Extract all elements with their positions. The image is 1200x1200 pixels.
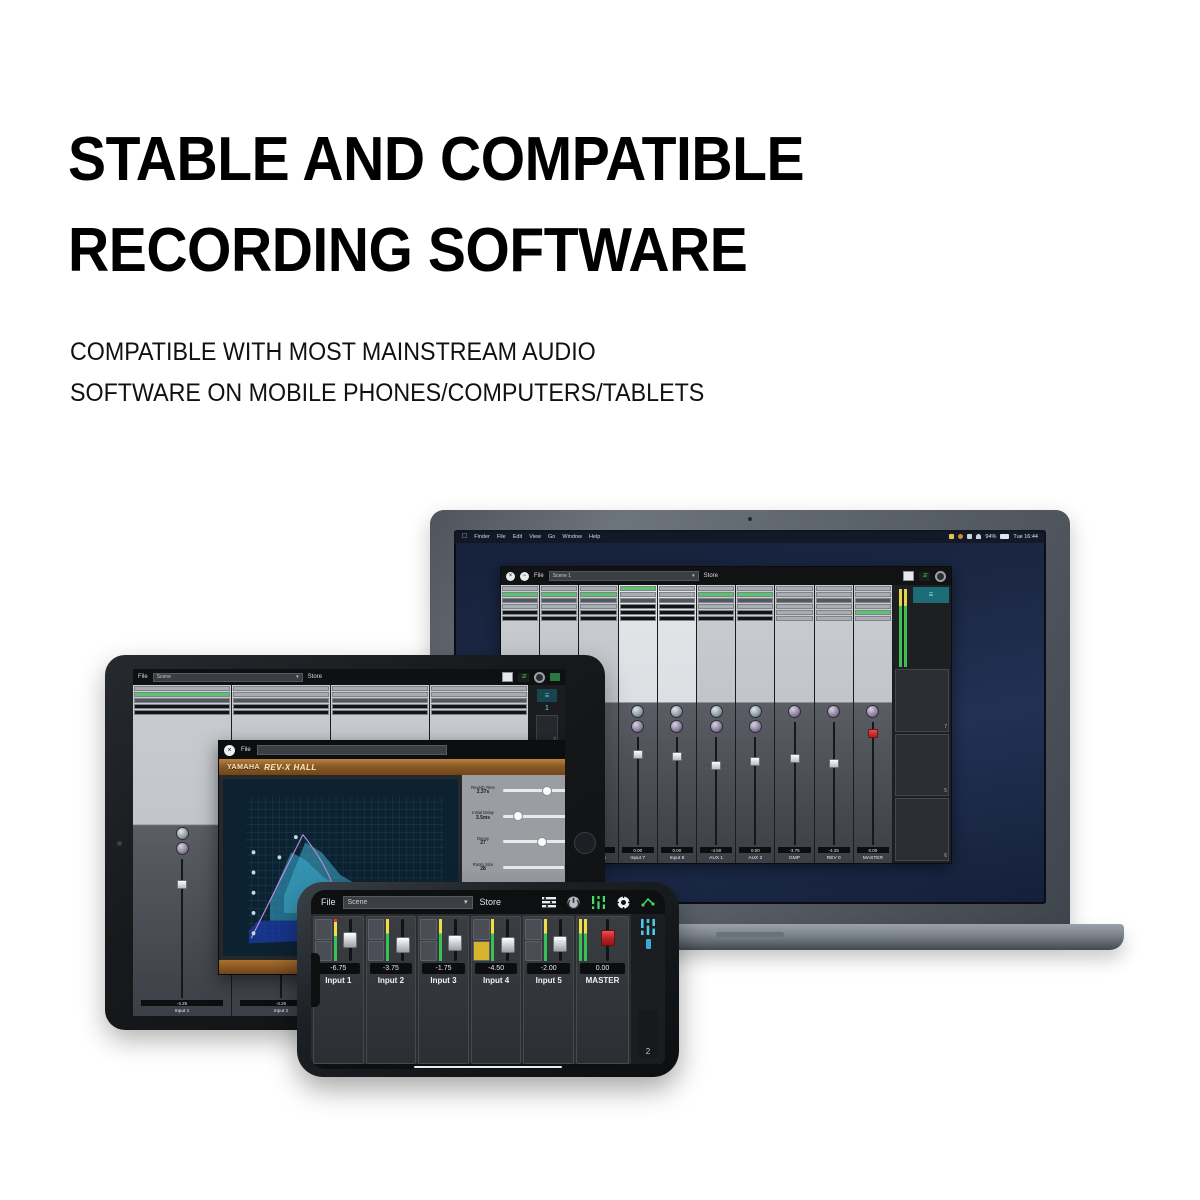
- phone-toolbar-icons: [542, 896, 655, 909]
- channel-controls: [697, 585, 735, 702]
- routing-cell[interactable]: [659, 598, 695, 603]
- fader-area[interactable]: [854, 720, 892, 845]
- menubar-clock[interactable]: Tue 16:44: [1013, 534, 1038, 540]
- routing-cell[interactable]: [233, 698, 329, 703]
- mute-button[interactable]: [420, 941, 437, 962]
- fader-area[interactable]: [697, 735, 735, 845]
- channel-lower: -4.25 Input 1: [133, 824, 231, 1016]
- channel-lower: -4.25 REV 0: [815, 702, 853, 863]
- level-meter: [385, 919, 390, 961]
- routing-cell[interactable]: [698, 586, 734, 591]
- fader-handle[interactable]: [633, 750, 643, 759]
- laptop-toolbar-right: ☰: [903, 571, 946, 582]
- phone-mixer-sidebar: 2: [631, 914, 665, 1064]
- routing-cell[interactable]: [776, 598, 812, 603]
- routing-cell[interactable]: [502, 616, 538, 621]
- file-label: File: [534, 573, 544, 579]
- fader-handle[interactable]: [343, 932, 357, 948]
- list-item[interactable]: Room Size 28: [466, 856, 565, 879]
- menu-item-help[interactable]: Help: [589, 534, 600, 540]
- routing-cell[interactable]: [502, 592, 538, 597]
- fader-area[interactable]: [815, 720, 853, 845]
- routing-cell[interactable]: [431, 698, 527, 703]
- close-icon[interactable]: ×: [506, 572, 515, 581]
- menu-item-view[interactable]: View: [529, 534, 541, 540]
- channel-buttons: [525, 919, 542, 961]
- preset-value: Scene 1: [553, 573, 571, 579]
- chevron-down-icon: ▾: [296, 674, 299, 680]
- slider-handle[interactable]: [537, 837, 547, 847]
- fader-area[interactable]: [619, 735, 657, 845]
- tablet-mixer-toolbar: File Scene ▾ Store ☰: [133, 669, 565, 685]
- routing-cell[interactable]: [134, 686, 230, 691]
- fader-area[interactable]: [338, 919, 361, 961]
- mute-button-active[interactable]: [473, 941, 490, 962]
- param-labels: Reverb Time 2.37s: [466, 786, 500, 796]
- meters-icon[interactable]: [502, 672, 513, 682]
- routing-cell[interactable]: [502, 598, 538, 603]
- routing-cell[interactable]: [776, 616, 812, 621]
- param-slider[interactable]: [503, 789, 565, 792]
- meter-bar: [386, 919, 389, 961]
- routing-cell[interactable]: [737, 586, 773, 591]
- table-row[interactable]: -6.75 Input 1: [313, 916, 364, 1064]
- master-fader-handle[interactable]: [868, 729, 878, 738]
- routing-cell[interactable]: [698, 604, 734, 609]
- routing-cell[interactable]: [816, 610, 852, 615]
- battery-percent: 94%: [985, 534, 996, 540]
- scene-display-icon[interactable]: ☰: [537, 689, 557, 702]
- fader-area[interactable]: [549, 919, 572, 961]
- routing-cell[interactable]: [620, 616, 656, 621]
- meter-bar: [544, 919, 547, 961]
- channel-value: 0.00: [739, 847, 771, 853]
- channel-label: MASTER: [863, 855, 883, 863]
- phone-mixer-toolbar: File Scene ▾ Store: [311, 890, 665, 914]
- wifi-icon[interactable]: [976, 534, 981, 539]
- faders-icon[interactable]: ☰: [518, 673, 529, 682]
- apple-logo-icon[interactable]: : [462, 533, 467, 540]
- routing-cell[interactable]: [816, 598, 852, 603]
- pan-knob[interactable]: [788, 705, 801, 718]
- routing-cell[interactable]: [816, 592, 852, 597]
- channel-controls: [854, 585, 892, 702]
- routing-cell[interactable]: [332, 692, 428, 697]
- routing-cell[interactable]: [737, 610, 773, 615]
- routing-cell[interactable]: [502, 586, 538, 591]
- routing-cell[interactable]: [580, 616, 616, 621]
- scene-slot[interactable]: 7: [895, 669, 949, 732]
- phone-device: File Scene ▾ Store: [297, 882, 679, 1077]
- param-labels: Room Size 28: [466, 863, 500, 873]
- routing-cell[interactable]: [855, 604, 891, 609]
- routing-cell[interactable]: [233, 710, 329, 715]
- phone-home-indicator-area: [311, 1064, 665, 1069]
- channel-top: [368, 919, 415, 961]
- routing-cell[interactable]: [431, 692, 527, 697]
- slider-handle[interactable]: [564, 862, 565, 872]
- scene-slot[interactable]: 2: [638, 1010, 658, 1058]
- channel-top: [420, 919, 467, 961]
- fader-handle[interactable]: [829, 759, 839, 768]
- phone-mixer-body: -6.75 Input 1: [311, 914, 665, 1064]
- routing-cell[interactable]: [134, 704, 230, 709]
- channel-label: AUX 1: [709, 855, 723, 863]
- routing-cell[interactable]: [134, 710, 230, 715]
- menu-item-file[interactable]: File: [497, 534, 506, 540]
- routing-cell[interactable]: [659, 586, 695, 591]
- mute-button[interactable]: [525, 941, 542, 962]
- routing-cell[interactable]: [855, 616, 891, 621]
- param-slider[interactable]: [503, 840, 565, 843]
- laptop-mixer-toolbar: × − File Scene 1 ▾ Store ☰: [501, 567, 951, 585]
- routing-cell[interactable]: [580, 610, 616, 615]
- fader-track[interactable]: [676, 737, 678, 845]
- battery-icon[interactable]: [1000, 534, 1009, 539]
- dropbox-icon[interactable]: [949, 534, 954, 539]
- channel-top: [315, 919, 362, 961]
- list-icon[interactable]: [542, 896, 556, 908]
- channel-value: 0.00: [857, 847, 889, 853]
- routing-cell[interactable]: [816, 616, 852, 621]
- fader-track[interactable]: [833, 722, 835, 845]
- fader-handle[interactable]: [711, 761, 721, 770]
- routing-cell[interactable]: [620, 586, 656, 591]
- master-fader-handle[interactable]: [601, 930, 615, 946]
- param-slider[interactable]: [503, 866, 565, 869]
- routing-cell[interactable]: [502, 610, 538, 615]
- fader-area[interactable]: [589, 919, 627, 961]
- meter-right: [904, 589, 907, 667]
- fader-area[interactable]: [736, 735, 774, 845]
- gear-icon[interactable]: [534, 672, 545, 683]
- routing-cell[interactable]: [431, 686, 527, 691]
- minimize-icon[interactable]: −: [520, 572, 529, 581]
- routing-cell[interactable]: [233, 704, 329, 709]
- fader-handle[interactable]: [177, 880, 187, 889]
- tablet-home-button[interactable]: [574, 832, 596, 854]
- fader-handle[interactable]: [672, 752, 682, 761]
- routing-cell[interactable]: [134, 698, 230, 703]
- channel-controls: [658, 585, 696, 702]
- routing-cell[interactable]: [332, 710, 428, 715]
- slider-handle[interactable]: [513, 811, 523, 821]
- channel-lower: -4.50 AUX 1: [697, 702, 735, 863]
- plugin-title: REV-X HALL: [264, 763, 317, 772]
- level-meter: [543, 919, 548, 961]
- routing-cell[interactable]: [737, 592, 773, 597]
- fader-handle[interactable]: [396, 937, 410, 953]
- routing-cell[interactable]: [431, 710, 527, 715]
- table-row[interactable]: 0.00 AUX 2: [736, 585, 775, 863]
- routing-cell[interactable]: [698, 592, 734, 597]
- fader-track[interactable]: [181, 859, 183, 998]
- fader-track[interactable]: [637, 737, 639, 845]
- meter-bar: [439, 919, 442, 961]
- routing-cell[interactable]: [816, 586, 852, 591]
- channel-value: -4.25: [141, 1000, 223, 1006]
- routing-cell[interactable]: [332, 698, 428, 703]
- scene-slot[interactable]: 5: [895, 734, 949, 797]
- routing-cell[interactable]: [580, 598, 616, 603]
- preset-select[interactable]: Scene ▾: [343, 896, 473, 909]
- table-row[interactable]: 0.00 Input 8: [658, 585, 697, 863]
- preset-select[interactable]: Scene ▾: [153, 673, 303, 682]
- list-item[interactable]: Initial Delay 3.5ms: [466, 805, 565, 828]
- routing-cell[interactable]: [620, 598, 656, 603]
- level-meter: [438, 919, 443, 961]
- table-row[interactable]: -4.25 REV 0: [815, 585, 854, 863]
- gear-icon[interactable]: [935, 571, 946, 582]
- routing-cell[interactable]: [776, 604, 812, 609]
- laptop-camera-icon: [748, 517, 752, 521]
- meters-icon[interactable]: [903, 571, 914, 581]
- mute-button[interactable]: [368, 941, 385, 962]
- param-value: 27: [466, 841, 500, 846]
- store-button[interactable]: Store: [308, 674, 322, 680]
- routing-cell[interactable]: [855, 598, 891, 603]
- fader-handle[interactable]: [448, 935, 462, 951]
- routing-cell[interactable]: [541, 598, 577, 603]
- page-headline: STABLE AND COMPATIBLE RECORDING SOFTWARE: [68, 128, 970, 282]
- table-row[interactable]: -1.75 Input 3: [418, 916, 469, 1064]
- table-row[interactable]: -3.75 GMP: [775, 585, 814, 863]
- menu-item-window[interactable]: Window: [562, 534, 582, 540]
- channel-controls: [736, 585, 774, 702]
- x-icon[interactable]: [967, 534, 972, 539]
- table-row[interactable]: 0.00 MASTER: [576, 916, 629, 1064]
- page-subheading: COMPATIBLE WITH MOST MAINSTREAM AUDIO SO…: [70, 332, 907, 413]
- list-item[interactable]: Decay 27: [466, 830, 565, 853]
- yamaha-logo: YAMAHA: [227, 764, 260, 771]
- gear-icon[interactable]: [617, 896, 630, 909]
- routing-cell[interactable]: [580, 604, 616, 609]
- phone-channel-strips: -6.75 Input 1: [311, 914, 631, 1064]
- pan-knob[interactable]: [176, 842, 189, 855]
- fader-handle[interactable]: [501, 937, 515, 953]
- channel-value: -3.75: [370, 963, 413, 974]
- fader-track[interactable]: [794, 722, 796, 845]
- routing-cell[interactable]: [659, 592, 695, 597]
- preset-select[interactable]: Scene 1 ▾: [549, 571, 699, 581]
- store-button[interactable]: Store: [704, 573, 718, 579]
- param-labels: Decay 27: [466, 837, 500, 847]
- routing-cell[interactable]: [541, 610, 577, 615]
- power-icon[interactable]: [567, 896, 580, 909]
- pan-knob[interactable]: [670, 720, 683, 733]
- table-row[interactable]: 0.00 MASTER: [854, 585, 893, 863]
- routing-cell[interactable]: [737, 598, 773, 603]
- routing-cell[interactable]: [541, 592, 577, 597]
- routing-cell[interactable]: [541, 616, 577, 621]
- routing-cell[interactable]: [332, 686, 428, 691]
- solo-button[interactable]: [473, 919, 490, 940]
- channel-controls: [619, 585, 657, 702]
- fader-track[interactable]: [872, 722, 874, 845]
- routing-cell[interactable]: [502, 604, 538, 609]
- table-row[interactable]: -2.00 Input 5: [523, 916, 574, 1064]
- routing-cell[interactable]: [431, 704, 527, 709]
- routing-cell[interactable]: [541, 604, 577, 609]
- pan-knob[interactable]: [710, 720, 723, 733]
- slider-handle[interactable]: [542, 786, 552, 796]
- gain-knob[interactable]: [749, 705, 762, 718]
- fader-area[interactable]: [775, 720, 813, 845]
- table-row[interactable]: -4.50 Input 4: [471, 916, 522, 1064]
- fader-track[interactable]: [754, 737, 756, 845]
- menu-item-edit[interactable]: Edit: [513, 534, 522, 540]
- faders-icon[interactable]: [640, 919, 656, 935]
- routing-cell[interactable]: [233, 686, 329, 691]
- scene-display[interactable]: ☰: [913, 587, 949, 603]
- channel-controls: [133, 685, 231, 824]
- routing-cell[interactable]: [580, 586, 616, 591]
- channel-controls: [775, 585, 813, 702]
- phone-notch: [311, 953, 320, 1007]
- laptop-trackpad-notch: [716, 932, 784, 937]
- param-value: 3.5ms: [466, 816, 500, 821]
- close-icon[interactable]: ×: [224, 745, 235, 756]
- preset-value: Scene: [157, 674, 171, 680]
- scene-slot[interactable]: 6: [895, 798, 949, 861]
- menubar-status-area: 94% Tue 16:44: [949, 534, 1038, 540]
- channel-top: [525, 919, 572, 961]
- scene-slot[interactable]: 1: [545, 705, 549, 712]
- solo-button[interactable]: [315, 919, 332, 940]
- fader-handle[interactable]: [553, 936, 567, 952]
- fader-area[interactable]: [658, 735, 696, 845]
- param-slider[interactable]: [503, 815, 565, 818]
- channel-label: Input 2: [368, 974, 415, 987]
- channel-label: Input 1: [315, 974, 362, 987]
- subheading-line-1: COMPATIBLE WITH MOST MAINSTREAM AUDIO: [70, 332, 907, 373]
- gain-knob[interactable]: [670, 705, 683, 718]
- gain-knob[interactable]: [710, 705, 723, 718]
- routing-cell[interactable]: [816, 604, 852, 609]
- channel-label: Input 8: [670, 855, 685, 863]
- fader-area[interactable]: [133, 857, 231, 998]
- channel-top: [578, 919, 627, 961]
- menu-item-finder[interactable]: Finder: [474, 534, 490, 540]
- solo-button[interactable]: [525, 919, 542, 940]
- channel-lower: 0.00 MASTER: [854, 702, 892, 863]
- device-showcase:  Finder File Edit View Go Window Help 9…: [0, 470, 1200, 1200]
- routing-cell[interactable]: [620, 610, 656, 615]
- pan-knob[interactable]: [866, 705, 879, 718]
- routing-cell[interactable]: [776, 592, 812, 597]
- phone-screen: File Scene ▾ Store: [311, 890, 665, 1069]
- routing-cell[interactable]: [233, 692, 329, 697]
- sidebar-top-row: ☰: [895, 587, 949, 667]
- channel-label: MASTER: [578, 974, 627, 987]
- menu-item-go[interactable]: Go: [548, 534, 555, 540]
- link-icon[interactable]: [550, 673, 560, 681]
- solo-button[interactable]: [420, 919, 437, 940]
- routing-cell[interactable]: [698, 598, 734, 603]
- laptop-mixer-sidebar: ☰ 7 5 6: [893, 585, 951, 863]
- channel-buttons: [420, 919, 437, 961]
- fader-area[interactable]: [444, 919, 467, 961]
- routing-cell[interactable]: [737, 616, 773, 621]
- routing-cell[interactable]: [659, 604, 695, 609]
- pan-knob[interactable]: [827, 705, 840, 718]
- tablet-camera-icon: [117, 841, 122, 846]
- fader-area[interactable]: [496, 919, 519, 961]
- gain-knob[interactable]: [176, 827, 189, 840]
- home-indicator[interactable]: [414, 1066, 563, 1068]
- level-meter: [491, 919, 496, 961]
- phone-body: File Scene ▾ Store: [297, 882, 679, 1077]
- indicator-icon: [646, 939, 651, 949]
- channel-label: GMP: [789, 855, 800, 863]
- meter-bar: [334, 919, 337, 961]
- pan-knob[interactable]: [749, 720, 762, 733]
- channel-label: Input 2: [274, 1008, 289, 1016]
- routing-cell[interactable]: [698, 616, 734, 621]
- link-icon[interactable]: [641, 896, 655, 908]
- gain-knob[interactable]: [631, 705, 644, 718]
- routing-cell[interactable]: [776, 610, 812, 615]
- macos-menubar:  Finder File Edit View Go Window Help 9…: [454, 530, 1046, 543]
- routing-cell[interactable]: [855, 610, 891, 615]
- faders-icon[interactable]: [591, 896, 606, 909]
- channel-lower: 0.00 AUX 2: [736, 702, 774, 863]
- list-item[interactable]: Reverb Time 2.37s: [466, 779, 565, 802]
- routing-cell[interactable]: [659, 610, 695, 615]
- solo-button[interactable]: [368, 919, 385, 940]
- fader-area[interactable]: [391, 919, 414, 961]
- routing-cell[interactable]: [620, 592, 656, 597]
- file-label: File: [241, 747, 251, 753]
- table-row[interactable]: -4.50 AUX 1: [697, 585, 736, 863]
- channel-value: -4.50: [700, 847, 732, 853]
- chevron-down-icon: ▾: [692, 573, 695, 579]
- routing-cell[interactable]: [620, 604, 656, 609]
- pan-knob[interactable]: [631, 720, 644, 733]
- level-meter: [333, 919, 338, 961]
- shield-icon[interactable]: [958, 534, 963, 539]
- plugin-preset-field[interactable]: [257, 745, 447, 755]
- fader-track[interactable]: [715, 737, 717, 845]
- fader-handle[interactable]: [790, 754, 800, 763]
- table-row[interactable]: -3.75 Input 2: [366, 916, 417, 1064]
- channel-value: 0.00: [661, 847, 693, 853]
- channel-lower: -3.75 GMP: [775, 702, 813, 863]
- routing-cell[interactable]: [332, 704, 428, 709]
- tablet-toolbar-right: ☰: [502, 672, 560, 683]
- plugin-titlebar: × File: [219, 741, 565, 759]
- channel-value: 0.00: [580, 963, 625, 974]
- routing-cell[interactable]: [776, 586, 812, 591]
- channel-lower: 0.00 Input 8: [658, 702, 696, 863]
- fader-handle[interactable]: [750, 757, 760, 766]
- routing-cell[interactable]: [134, 692, 230, 697]
- param-labels: Initial Delay 3.5ms: [466, 811, 500, 821]
- routing-cell[interactable]: [855, 592, 891, 597]
- channel-value: -2.00: [527, 963, 570, 974]
- routing-cell[interactable]: [659, 616, 695, 621]
- meter-left: [899, 589, 902, 667]
- store-button[interactable]: Store: [480, 897, 502, 907]
- routing-cell[interactable]: [698, 610, 734, 615]
- faders-icon[interactable]: ☰: [919, 572, 930, 581]
- table-row[interactable]: 0.00 Input 7: [619, 585, 658, 863]
- channel-buttons: [473, 919, 490, 961]
- routing-cell[interactable]: [737, 604, 773, 609]
- routing-cell[interactable]: [855, 586, 891, 591]
- routing-cell[interactable]: [541, 586, 577, 591]
- routing-cell[interactable]: [580, 592, 616, 597]
